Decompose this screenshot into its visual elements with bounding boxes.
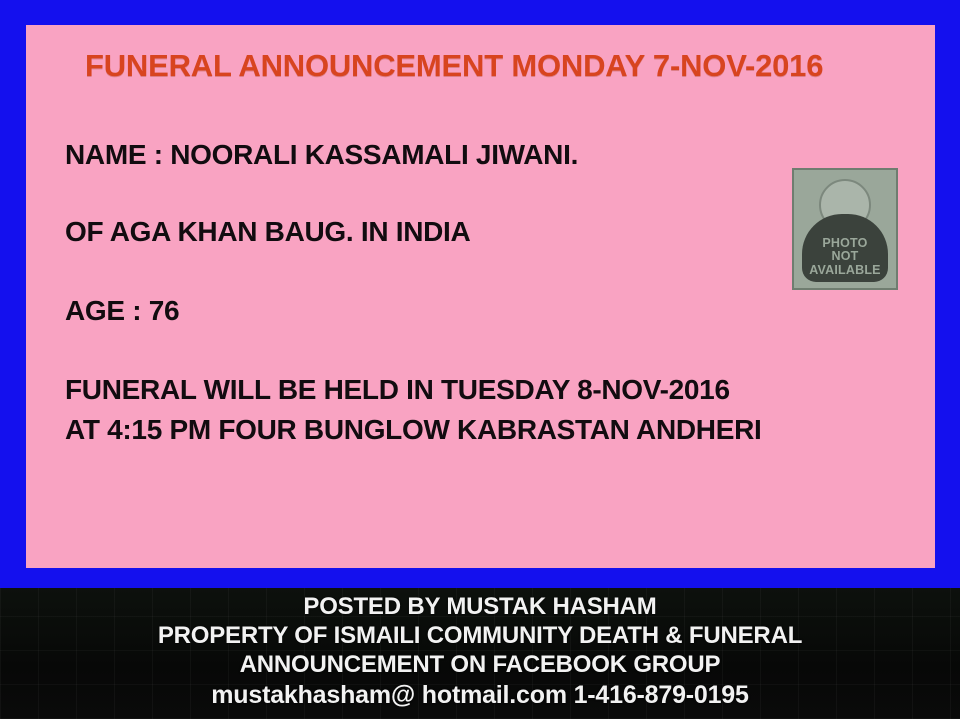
detail-line-name: NAME : NOORALI KASSAMALI JIWANI. [65, 141, 825, 169]
funeral-announcement-poster: FUNERAL ANNOUNCEMENT MONDAY 7-NOV-2016 N… [0, 0, 960, 719]
footer-group-line: ANNOUNCEMENT ON FACEBOOK GROUP [0, 652, 960, 678]
detail-line-residence: OF AGA KHAN BAUG. IN INDIA [65, 218, 825, 246]
announcement-details: NAME : NOORALI KASSAMALI JIWANI. OF AGA … [65, 141, 825, 444]
detail-line-funeral-venue: AT 4:15 PM FOUR BUNGLOW KABRASTAN ANDHER… [65, 416, 825, 444]
photo-label-line-2: NOT [794, 250, 896, 264]
photo-placeholder-label: PHOTO NOT AVAILABLE [794, 237, 896, 278]
detail-line-age: AGE : 76 [65, 297, 825, 325]
announcement-card: FUNERAL ANNOUNCEMENT MONDAY 7-NOV-2016 N… [26, 25, 935, 568]
announcement-header-title: FUNERAL ANNOUNCEMENT MONDAY 7-NOV-2016 [85, 48, 823, 84]
detail-line-funeral-date: FUNERAL WILL BE HELD IN TUESDAY 8-NOV-20… [65, 376, 825, 404]
footer-credits: POSTED BY MUSTAK HASHAM PROPERTY OF ISMA… [0, 588, 960, 719]
photo-label-line-1: PHOTO [794, 237, 896, 251]
footer-posted-by: POSTED BY MUSTAK HASHAM [0, 594, 960, 620]
footer-property-line: PROPERTY OF ISMAILI COMMUNITY DEATH & FU… [0, 623, 960, 649]
blue-frame-border: FUNERAL ANNOUNCEMENT MONDAY 7-NOV-2016 N… [0, 0, 960, 588]
footer-contact-line: mustakhasham@ hotmail.com 1-416-879-0195 [0, 682, 960, 709]
photo-not-available-placeholder: PHOTO NOT AVAILABLE [792, 168, 898, 290]
photo-label-line-3: AVAILABLE [794, 264, 896, 278]
